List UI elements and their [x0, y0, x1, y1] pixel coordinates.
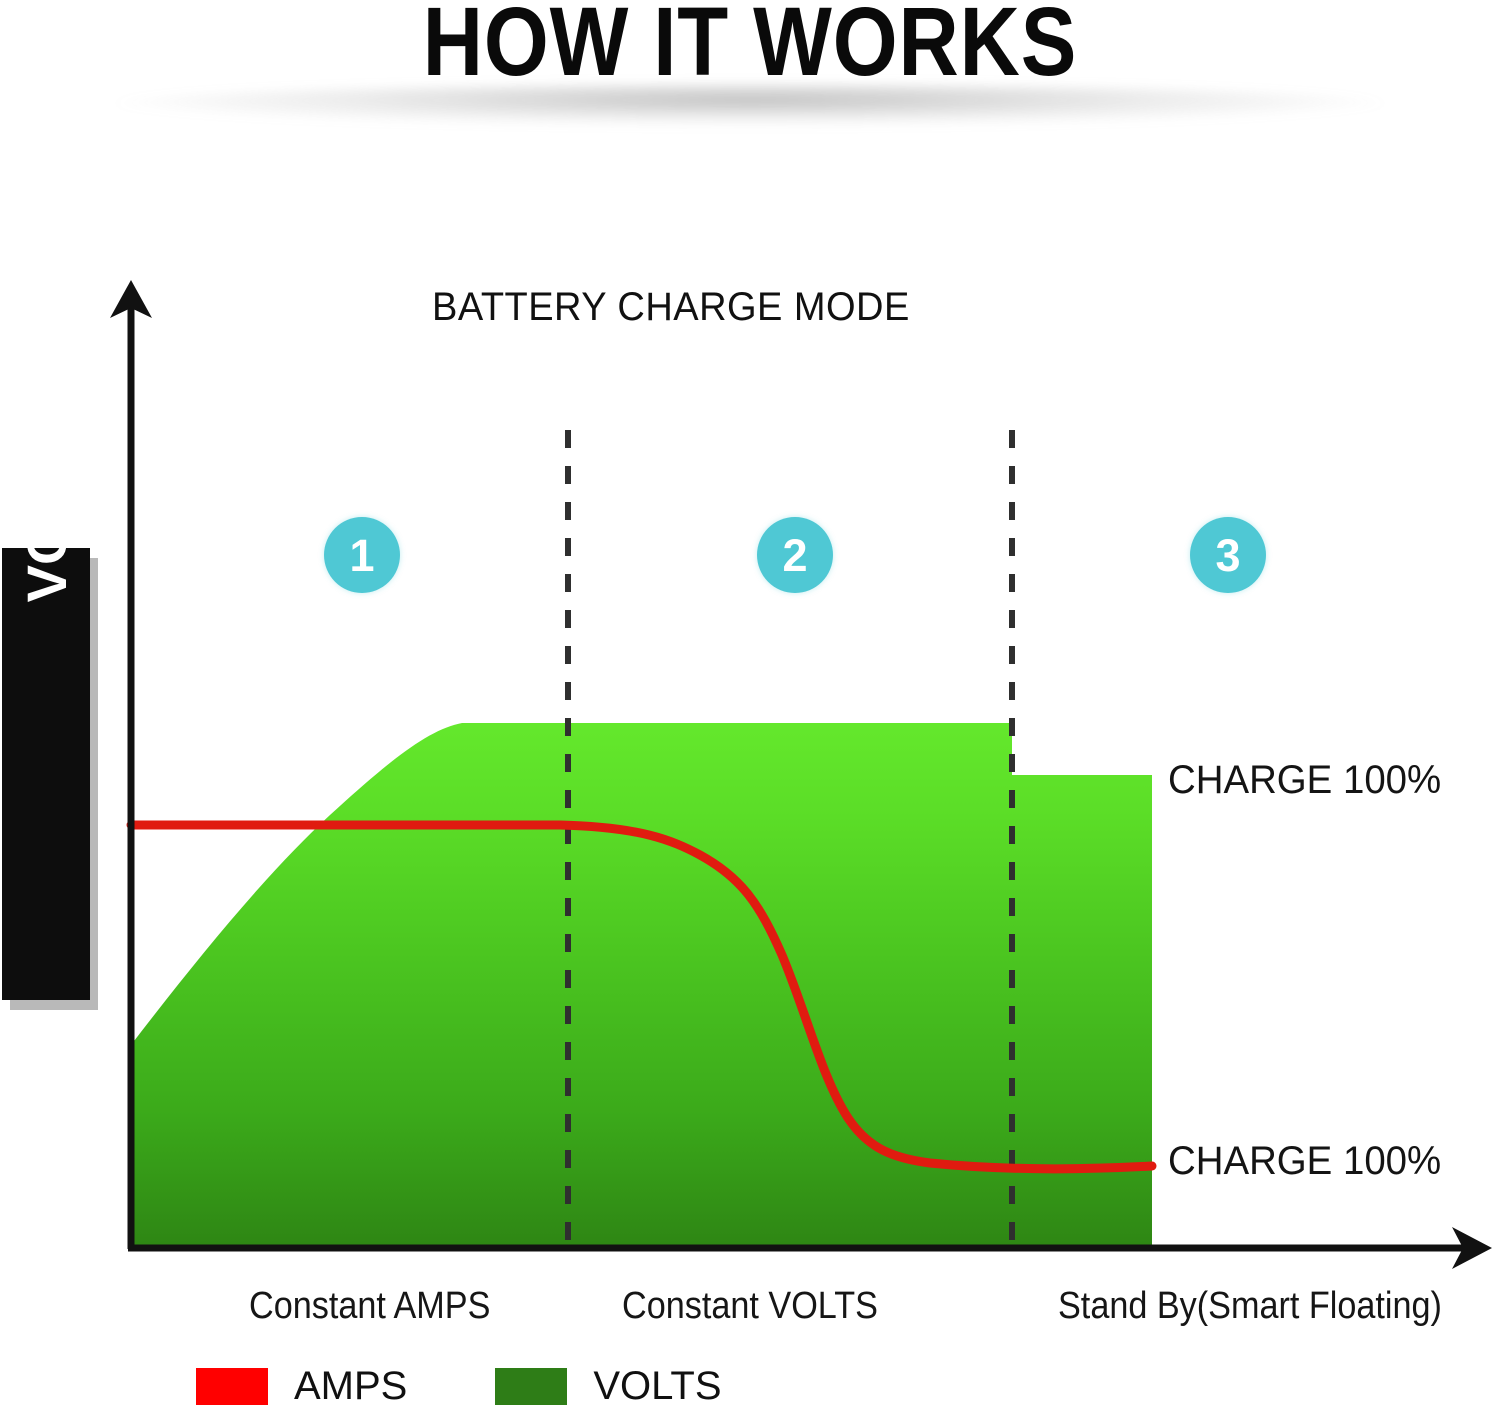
- stage-badge-2: 2: [757, 517, 833, 593]
- stage-badge-1: 1: [324, 517, 400, 593]
- legend-item-volts: VOLTS: [495, 1364, 721, 1408]
- stage-badge-1-number: 1: [349, 533, 374, 578]
- legend-swatch-volts: [495, 1368, 567, 1405]
- volts-charge-label: CHARGE 100%: [1168, 758, 1441, 803]
- chart-legend: AMPS VOLTS: [196, 1364, 722, 1408]
- legend-label-amps: AMPS: [294, 1364, 407, 1408]
- chart-plot: [0, 0, 1500, 1408]
- stage-caption-3: Stand By(Smart Floating): [1058, 1285, 1442, 1328]
- stage-badge-3: 3: [1190, 517, 1266, 593]
- legend-swatch-amps: [196, 1368, 268, 1405]
- legend-item-amps: AMPS: [196, 1364, 407, 1408]
- legend-label-volts: VOLTS: [593, 1364, 721, 1408]
- amps-charge-label: CHARGE 100%: [1168, 1139, 1441, 1184]
- infographic-root: HOW IT WORKS VOLTS&AMPS BATTERY CHARGE M…: [0, 0, 1500, 1408]
- stage-caption-1: Constant AMPS: [249, 1285, 490, 1328]
- stage-caption-2: Constant VOLTS: [622, 1285, 878, 1328]
- stage-badge-2-number: 2: [782, 533, 807, 578]
- stage-badge-3-number: 3: [1215, 533, 1240, 578]
